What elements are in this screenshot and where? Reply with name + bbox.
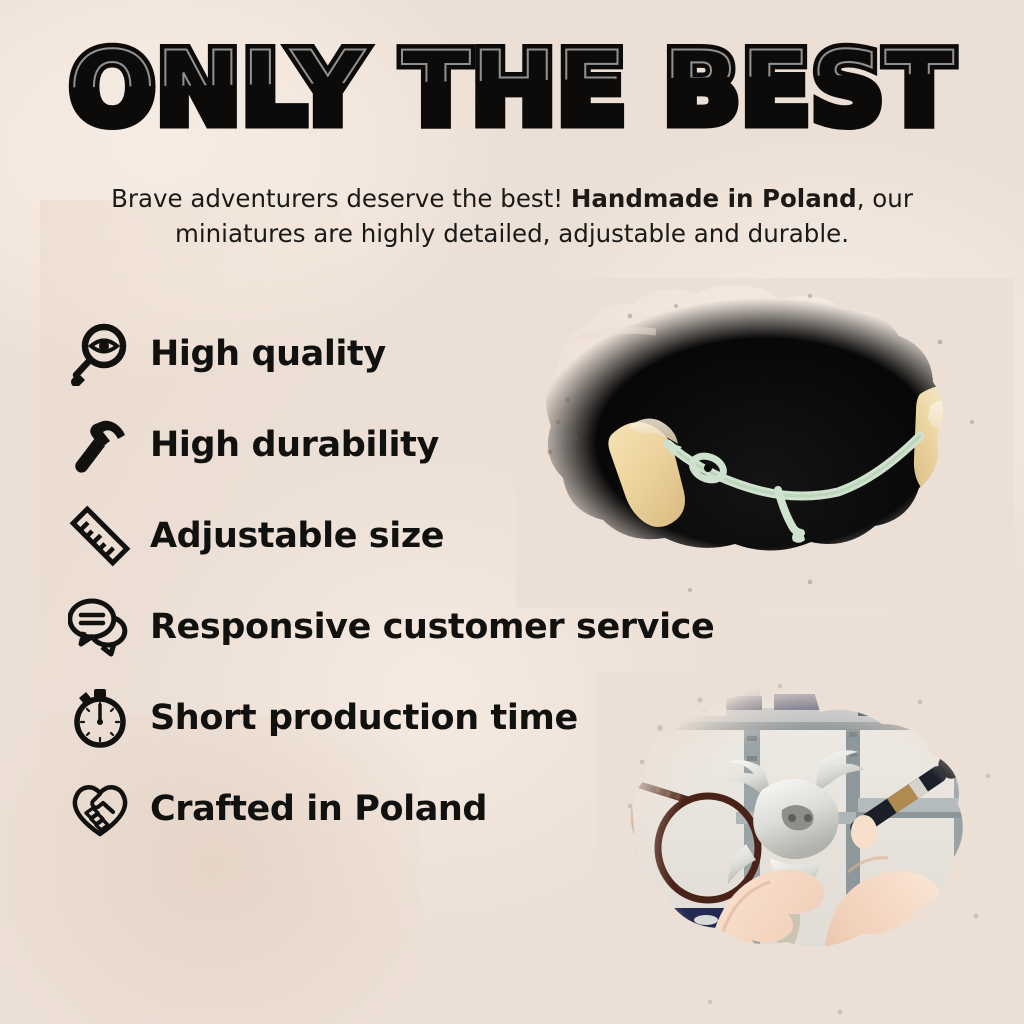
flexibility-photo: [516, 278, 1014, 608]
svg-text:2: 2: [699, 696, 708, 715]
feature-label: High quality: [150, 334, 386, 374]
workshop-photo-image: 2: [596, 672, 1024, 1024]
page-title: Only the Best: [0, 38, 1024, 139]
feature-label: Short production time: [150, 698, 578, 738]
poster-root: Only the Best Only the Best Brave advent…: [0, 0, 1024, 1024]
feature-label: High durability: [150, 425, 439, 465]
hammer-icon: [62, 407, 138, 483]
magnifier-eye-icon: [62, 316, 138, 392]
stopwatch-icon: [62, 680, 138, 756]
feature-label: Responsive customer service: [150, 607, 714, 647]
subtitle: Brave adventurers deserve the best! Hand…: [60, 182, 964, 252]
ruler-icon: [62, 498, 138, 574]
feature-label: Adjustable size: [150, 516, 444, 556]
subtitle-lead: Brave adventurers deserve the best!: [111, 184, 571, 213]
heart-handshake-icon: [62, 771, 138, 847]
flexibility-photo-image: [516, 278, 1014, 608]
feature-label: Crafted in Poland: [150, 789, 487, 829]
speech-bubbles-icon: [62, 589, 138, 665]
subtitle-highlight: Handmade in Poland: [571, 184, 857, 213]
workshop-photo: 2: [596, 672, 1024, 1024]
